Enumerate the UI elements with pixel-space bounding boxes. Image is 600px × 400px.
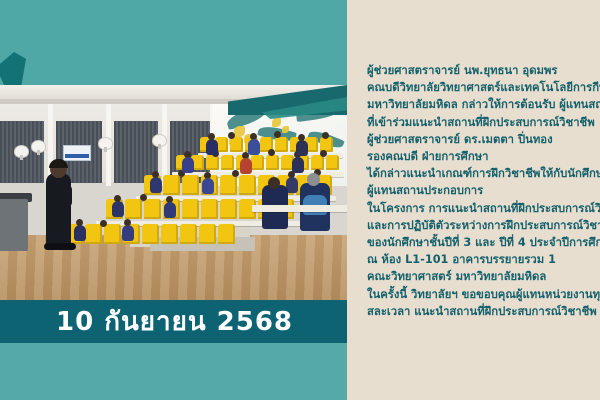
seat: [182, 175, 199, 195]
audience-head: [100, 220, 107, 227]
audience-head: [322, 132, 329, 139]
body-line: รองคณบดี ฝ่ายการศึกษา: [367, 148, 600, 165]
seat: [104, 224, 121, 244]
podium: [0, 199, 28, 251]
audience-head: [228, 132, 235, 139]
poster-canvas: 10 กันยายน 2568 ผู้ช่วยศาสตราจารย์ นพ.ยุ…: [0, 0, 600, 400]
body-line: ที่เข้าร่วมแนะนำสถานที่ฝึกประสบการณ์วิชา…: [367, 114, 600, 131]
body-line: คณะวิทยาศาสตร์ มหาวิทยาลัยมหิดล: [367, 268, 600, 285]
mural-flower-icon: [272, 118, 281, 127]
body-line: ผู้ช่วยศาสตราจารย์ นพ.ยุทธนา อุดมพร: [367, 62, 600, 79]
seat: [161, 224, 178, 244]
body-line: ได้กล่าวแนะนำเกณฑ์การฝึกวิชาชีพให้กับนัก…: [367, 165, 600, 182]
seat: [251, 155, 264, 170]
seat: [266, 155, 279, 170]
audience-person: [202, 178, 214, 194]
audience-person: [122, 225, 134, 241]
body-line: และการปฏิบัติตัวระหว่างการฝึกประสบการณ์ว…: [367, 217, 600, 234]
seat: [221, 155, 234, 170]
seat: [142, 224, 159, 244]
audience-person: [248, 139, 260, 155]
seat-row: [176, 155, 339, 170]
lecture-hall-photo: [0, 85, 347, 300]
seat: [326, 155, 339, 170]
seat: [230, 137, 243, 152]
right-text-panel: ผู้ช่วยศาสตราจารย์ นพ.ยุทธนา อุดมพร คณบด…: [347, 0, 600, 400]
speaker-arm: [63, 185, 72, 207]
seat: [275, 137, 288, 152]
body-line: คณบดีวิทยาลัยวิทยาศาสตร์และเทคโนโลยีการก…: [367, 79, 600, 96]
audience-head: [320, 150, 327, 157]
body-line: ณ ห้อง L1-101 อาคารบรรยายรวม 1: [367, 251, 600, 268]
mural-flower-icon: [234, 126, 245, 137]
seat: [201, 199, 218, 219]
seat: [85, 224, 102, 244]
seat: [144, 199, 161, 219]
audience-person: [296, 140, 308, 156]
mural-flower-icon: [282, 126, 289, 133]
body-line: ในครั้งนี้ วิทยาลัยฯ ขอขอบคุณผู้แทนหน่วย…: [367, 286, 600, 303]
vip-head: [307, 173, 320, 186]
body-line: สละเวลา แนะนำสถานที่ฝึกประสบการณ์วิชาชีพ: [367, 303, 600, 320]
date-text: 10 กันยายน 2568: [56, 301, 293, 342]
seat: [218, 224, 235, 244]
announcement-body: ผู้ช่วยศาสตราจารย์ นพ.ยุทธนา อุดมพร คณบด…: [367, 62, 600, 320]
seat: [125, 199, 142, 219]
desk-ledge: [252, 205, 347, 212]
audience-person: [164, 202, 176, 218]
audience-person: [74, 225, 86, 241]
audience-person: [206, 139, 218, 155]
body-line: ผู้ช่วยศาสตราจารย์ ดร.เมตตา ปิ่นทอง: [367, 131, 600, 148]
date-banner: 10 กันยายน 2568: [0, 300, 347, 343]
seat: [206, 155, 219, 170]
seat-row: [200, 137, 333, 152]
audience-person: [182, 157, 194, 173]
vip-head: [268, 177, 280, 189]
audience-head: [274, 131, 281, 138]
seat: [180, 224, 197, 244]
seat: [163, 175, 180, 195]
audience-person: [150, 177, 162, 193]
left-panel: 10 กันยายน 2568: [0, 0, 347, 400]
seat: [199, 224, 216, 244]
wall-fan-icon: [14, 145, 29, 158]
seat: [239, 175, 256, 195]
audience-head: [140, 194, 147, 201]
seat: [220, 199, 237, 219]
body-line: ในโครงการ การแนะนำสถานที่ฝึกประสบการณ์วิ…: [367, 200, 600, 217]
audience-head: [268, 149, 275, 156]
body-line: ของนักศึกษาชั้นปีที่ 3 และ ปีที่ 4 ประจำ…: [367, 234, 600, 251]
speaker-shoes: [44, 243, 76, 250]
body-line: ผู้แทนสถานประกอบการ: [367, 182, 600, 199]
audience-person: [292, 157, 304, 173]
seat: [182, 199, 199, 219]
audience-head: [232, 170, 239, 177]
audience-person: [240, 158, 252, 174]
audience-person: [112, 201, 124, 217]
seat: [220, 175, 237, 195]
body-line: มหาวิทยาลัยมหิดล กล่าวให้การต้อนรับ ผู้แ…: [367, 96, 600, 113]
seat: [311, 155, 324, 170]
seat-row: [66, 224, 235, 244]
